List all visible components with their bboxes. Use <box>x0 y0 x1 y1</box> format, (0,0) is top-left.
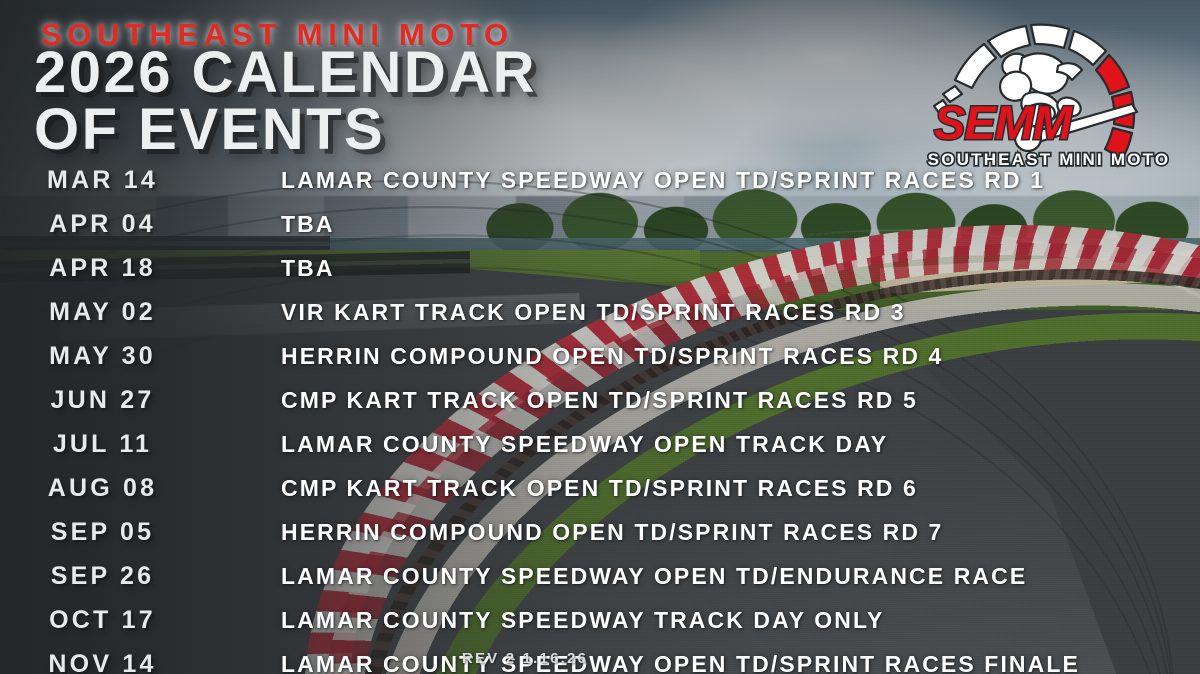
event-date: JUL 11 <box>0 430 205 459</box>
event-date: SEP 26 <box>0 562 205 591</box>
list-item: APR 04 TBA <box>0 210 1200 254</box>
event-description: CMP KART TRACK OPEN TD/SPRINT RACES RD 6 <box>205 475 918 502</box>
list-item: JUN 27 CMP KART TRACK OPEN TD/SPRINT RAC… <box>0 386 1200 430</box>
page-title: 2026 CALENDAR OF EVENTS <box>34 44 537 159</box>
event-date: MAY 30 <box>0 342 205 371</box>
list-item: APR 18 TBA <box>0 254 1200 298</box>
event-description: LAMAR COUNTY SPEEDWAY OPEN TRACK DAY <box>205 431 888 458</box>
events-list: MAR 14 LAMAR COUNTY SPEEDWAY OPEN TD/SPR… <box>0 166 1200 674</box>
event-date: APR 04 <box>0 210 205 239</box>
event-date: MAR 14 <box>0 166 205 195</box>
event-description: LAMAR COUNTY SPEEDWAY TRACK DAY ONLY <box>205 607 884 634</box>
poster-content: SOUTHEAST MINI MOTO 2026 CALENDAR OF EVE… <box>0 0 1200 674</box>
event-date: SEP 05 <box>0 518 205 547</box>
list-item: MAY 30 HERRIN COMPOUND OPEN TD/SPRINT RA… <box>0 342 1200 386</box>
event-description: CMP KART TRACK OPEN TD/SPRINT RACES RD 5 <box>205 387 918 414</box>
event-date: APR 18 <box>0 254 205 283</box>
event-description: HERRIN COMPOUND OPEN TD/SPRINT RACES RD … <box>205 519 943 546</box>
list-item: AUG 08 CMP KART TRACK OPEN TD/SPRINT RAC… <box>0 474 1200 518</box>
event-description: HERRIN COMPOUND OPEN TD/SPRINT RACES RD … <box>205 343 943 370</box>
event-description: TBA <box>205 255 335 282</box>
event-date: OCT 17 <box>0 606 205 635</box>
event-date: JUN 27 <box>0 386 205 415</box>
list-item: JUL 11 LAMAR COUNTY SPEEDWAY OPEN TRACK … <box>0 430 1200 474</box>
logo-wordmark: SOUTHEAST MINI MOTO <box>928 150 1171 169</box>
page-title-line-1: 2026 CALENDAR <box>34 40 537 105</box>
logo-acronym: SEMM <box>934 96 1073 149</box>
list-item: MAY 02 VIR KART TRACK OPEN TD/SPRINT RAC… <box>0 298 1200 342</box>
event-description: LAMAR COUNTY SPEEDWAY OPEN TD/ENDURANCE … <box>205 563 1027 590</box>
list-item: OCT 17 LAMAR COUNTY SPEEDWAY TRACK DAY O… <box>0 606 1200 650</box>
list-item: SEP 05 HERRIN COMPOUND OPEN TD/SPRINT RA… <box>0 518 1200 562</box>
event-description: TBA <box>205 211 335 238</box>
page-title-line-2: OF EVENTS <box>34 101 537 158</box>
event-date: AUG 08 <box>0 474 205 503</box>
revision-note: REV 2 1.16.26 <box>0 650 1050 667</box>
list-item: SEP 26 LAMAR COUNTY SPEEDWAY OPEN TD/END… <box>0 562 1200 606</box>
event-description: VIR KART TRACK OPEN TD/SPRINT RACES RD 3 <box>205 299 906 326</box>
semm-logo: SEMM SOUTHEAST MINI MOTO <box>918 8 1180 174</box>
event-date: MAY 02 <box>0 298 205 327</box>
calendar-poster: SOUTHEAST MINI MOTO 2026 CALENDAR OF EVE… <box>0 0 1200 674</box>
